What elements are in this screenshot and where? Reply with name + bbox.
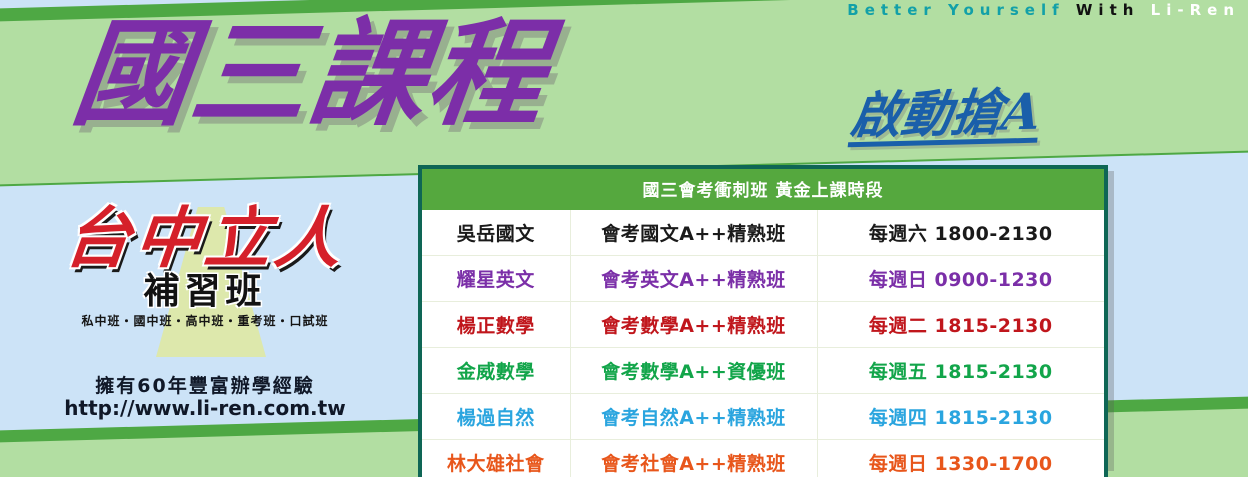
tagline-part-1: Better Yourself: [847, 1, 1064, 19]
cell-course: 會考國文A++精熟班: [570, 210, 817, 256]
tagline-part-2: With: [1076, 1, 1140, 19]
schedule-title: 國三會考衝刺班 黃金上課時段: [422, 169, 1104, 210]
table-row: 楊過自然會考自然A++精熟班每週四 1815-2130: [422, 394, 1104, 440]
cell-teacher: 楊過自然: [422, 394, 570, 440]
logo-brand-name: 台中立人: [27, 205, 384, 271]
cell-course: 會考數學A++資優班: [570, 348, 817, 394]
table-row: 林大雄社會會考社會A++精熟班每週日 1330-1700: [422, 440, 1104, 477]
promo-banner: Better Yourself With Li-Ren 國三課程 啟動搶A 台中…: [0, 0, 1248, 477]
cell-time: 每週四 1815-2130: [817, 394, 1104, 440]
cell-time: 每週日 0900-1230: [817, 256, 1104, 302]
cell-course: 會考數學A++精熟班: [570, 302, 817, 348]
tagline-part-3: Li-Ren: [1151, 1, 1240, 19]
experience-text: 擁有60年豐富辦學經驗: [30, 375, 380, 397]
logo-class-tags: 私中班・國中班・高中班・重考班・口試班: [30, 312, 380, 329]
cell-course: 會考社會A++精熟班: [570, 440, 817, 477]
table-row: 耀星英文會考英文A++精熟班每週日 0900-1230: [422, 256, 1104, 302]
cell-time: 每週五 1815-2130: [817, 348, 1104, 394]
schedule-table: 國三會考衝刺班 黃金上課時段 吳岳國文會考國文A++精熟班每週六 1800-21…: [418, 165, 1108, 477]
table-row: 楊正數學會考數學A++精熟班每週二 1815-2130: [422, 302, 1104, 348]
sub-title: 啟動搶A: [848, 72, 1046, 149]
cell-time: 每週二 1815-2130: [817, 302, 1104, 348]
table-row: 金威數學會考數學A++資優班每週五 1815-2130: [422, 348, 1104, 394]
logo-type-name: 補習班: [30, 273, 380, 311]
table-row: 吳岳國文會考國文A++精熟班每週六 1800-2130: [422, 210, 1104, 256]
cell-teacher: 林大雄社會: [422, 440, 570, 477]
cell-course: 會考英文A++精熟班: [570, 256, 817, 302]
cell-time: 每週六 1800-2130: [817, 210, 1104, 256]
logo: 台中立人 補習班 私中班・國中班・高中班・重考班・口試班: [30, 205, 380, 329]
tagline: Better Yourself With Li-Ren: [847, 1, 1240, 19]
cell-teacher: 耀星英文: [422, 256, 570, 302]
main-title: 國三課程: [67, 14, 554, 136]
schedule-header-row: 國三會考衝刺班 黃金上課時段: [422, 169, 1104, 210]
cell-teacher: 吳岳國文: [422, 210, 570, 256]
cell-teacher: 金威數學: [422, 348, 570, 394]
cell-time: 每週日 1330-1700: [817, 440, 1104, 477]
cell-teacher: 楊正數學: [422, 302, 570, 348]
cell-course: 會考自然A++精熟班: [570, 394, 817, 440]
website-url[interactable]: http://www.li-ren.com.tw: [30, 397, 380, 420]
